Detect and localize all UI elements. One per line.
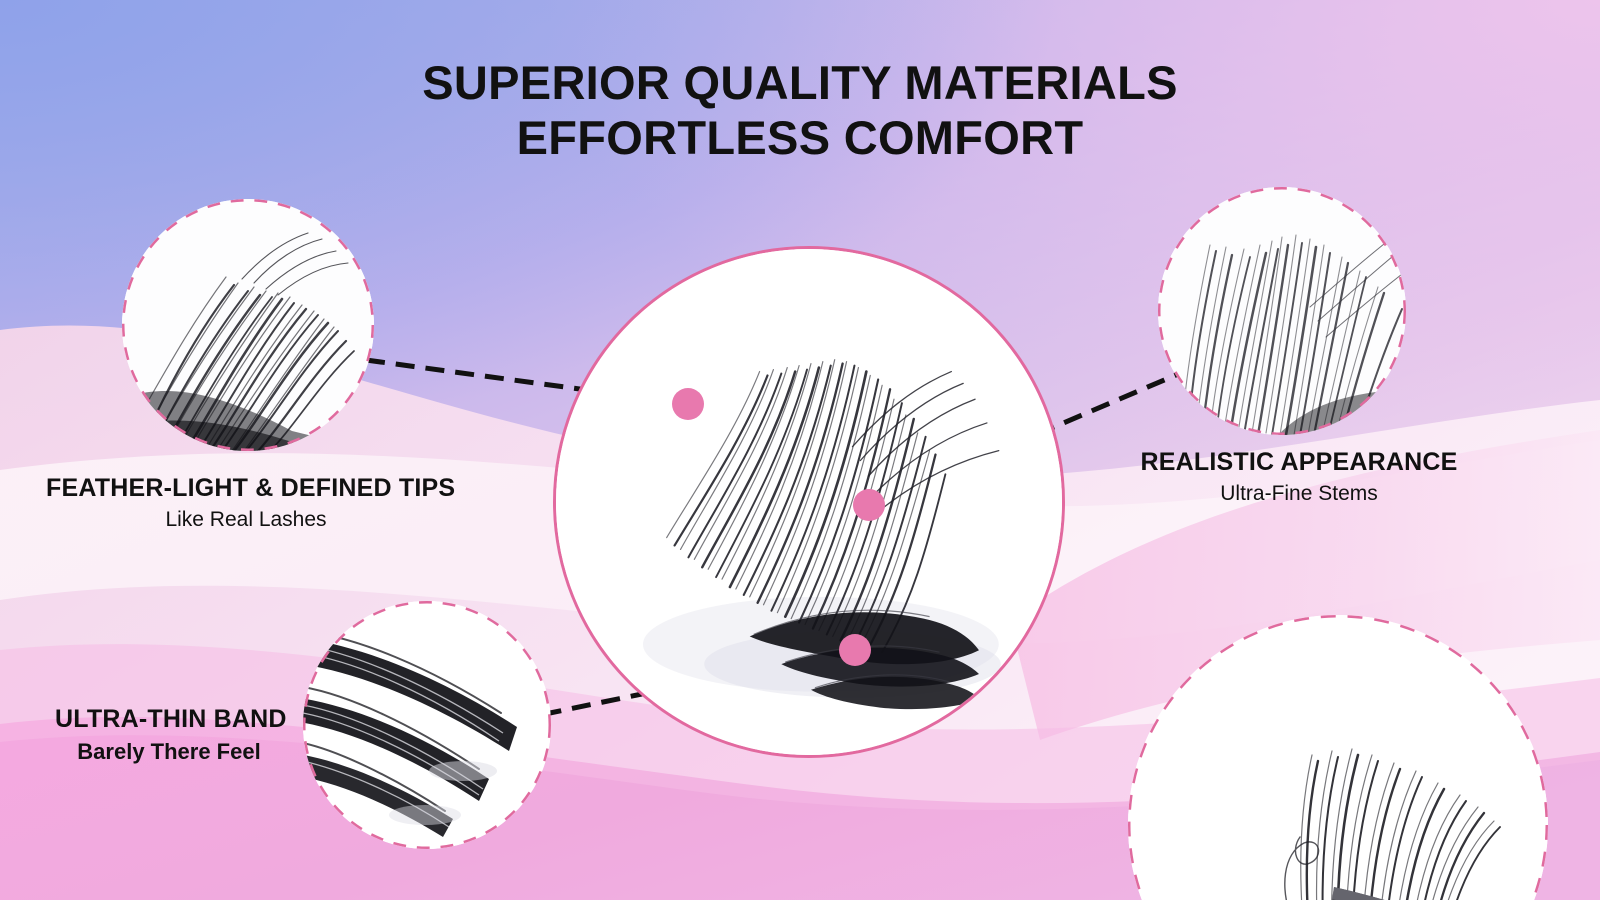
- false-eyelash-cluster-product-photo: [556, 249, 1062, 755]
- hero-product-circle[interactable]: [553, 246, 1065, 758]
- callout-circle-realistic-appearance[interactable]: [1158, 187, 1406, 435]
- headline-line-2: EFFORTLESS COMFORT: [0, 111, 1600, 166]
- feature-subtitle: Ultra-Fine Stems: [1103, 482, 1495, 506]
- hotspot-dot-realistic-appearance[interactable]: [853, 489, 885, 521]
- callout-circle-ultra-thin-band[interactable]: [303, 601, 551, 849]
- feature-label-realistic-appearance: REALISTIC APPEARANCE Ultra-Fine Stems: [1103, 448, 1495, 506]
- lash-fiber-tips-macro-image: [122, 199, 374, 451]
- feature-title: FEATHER-LIGHT & DEFINED TIPS: [46, 474, 446, 503]
- callout-circle-feather-light[interactable]: [122, 199, 374, 451]
- feature-subtitle: Barely There Feel: [55, 739, 283, 765]
- lash-fine-stems-macro-image: [1158, 187, 1406, 435]
- poster-canvas: SUPERIOR QUALITY MATERIALS EFFORTLESS CO…: [0, 0, 1600, 900]
- callout-circle-tweezer-detail[interactable]: [1128, 615, 1548, 900]
- lash-thin-band-macro-image: [303, 601, 551, 849]
- hotspot-dot-ultra-thin-band[interactable]: [839, 634, 871, 666]
- lash-clusters-held-by-tweezers-image: [1128, 615, 1548, 900]
- feature-title: REALISTIC APPEARANCE: [1103, 448, 1495, 477]
- feature-label-feather-light: FEATHER-LIGHT & DEFINED TIPS Like Real L…: [46, 474, 446, 532]
- poster-headline: SUPERIOR QUALITY MATERIALS EFFORTLESS CO…: [0, 56, 1600, 166]
- feature-title: ULTRA-THIN BAND: [55, 705, 283, 734]
- hotspot-dot-feather-light[interactable]: [672, 388, 704, 420]
- headline-line-1: SUPERIOR QUALITY MATERIALS: [422, 56, 1178, 109]
- feature-subtitle: Like Real Lashes: [46, 508, 446, 532]
- feature-label-ultra-thin-band: ULTRA-THIN BAND Barely There Feel: [55, 705, 283, 765]
